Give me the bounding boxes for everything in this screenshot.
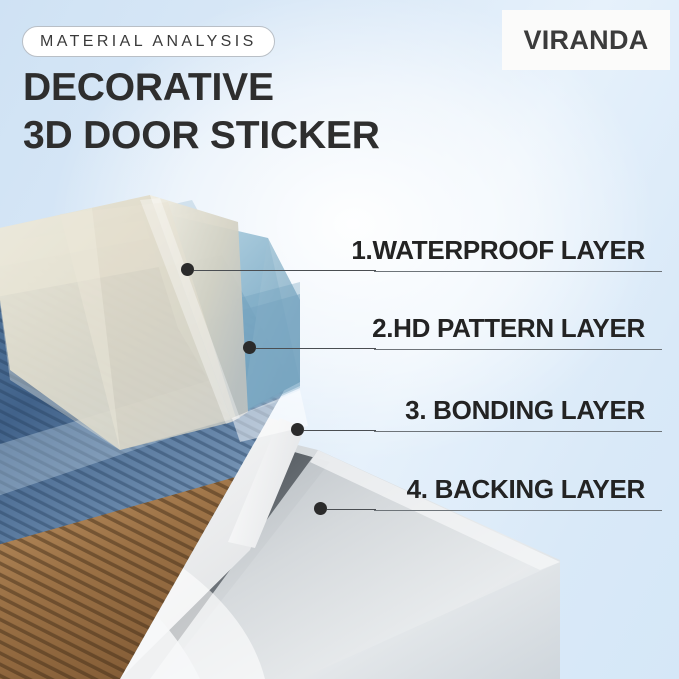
leader-line-bonding [304,430,376,431]
page-title: DECORATIVE 3D DOOR STICKER [23,66,380,158]
callout-rule-hd-pattern [374,349,662,350]
leader-line-waterproof [194,270,376,271]
callout-label-waterproof: 1.WATERPROOF LAYER [351,235,645,266]
callout-label-backing: 4. BACKING LAYER [407,474,645,505]
layer-marker-backing [314,502,327,515]
brand-name: VIRANDA [523,25,648,56]
callout-waterproof: 1.WATERPROOF LAYER [374,236,662,272]
callout-rule-bonding [374,431,662,432]
callout-hd-pattern: 2.HD PATTERN LAYER [374,314,662,350]
eyebrow-badge: MATERIAL ANALYSIS [22,26,275,57]
callout-label-hd-pattern: 2.HD PATTERN LAYER [372,313,645,344]
layer-marker-bonding [291,423,304,436]
callout-rule-waterproof [374,271,662,272]
callout-label-bonding: 3. BONDING LAYER [405,395,645,426]
layer-marker-hd-pattern [243,341,256,354]
infographic-canvas: MATERIAL ANALYSIS DECORATIVE 3D DOOR STI… [0,0,679,679]
page-title-line1: DECORATIVE [23,66,274,109]
callout-rule-backing [374,510,662,511]
callout-bonding: 3. BONDING LAYER [374,396,662,432]
brand-logo-box: VIRANDA [502,10,670,70]
layer-marker-waterproof [181,263,194,276]
leader-line-hd-pattern [256,348,376,349]
leader-line-backing [327,509,376,510]
callout-backing: 4. BACKING LAYER [374,475,662,511]
